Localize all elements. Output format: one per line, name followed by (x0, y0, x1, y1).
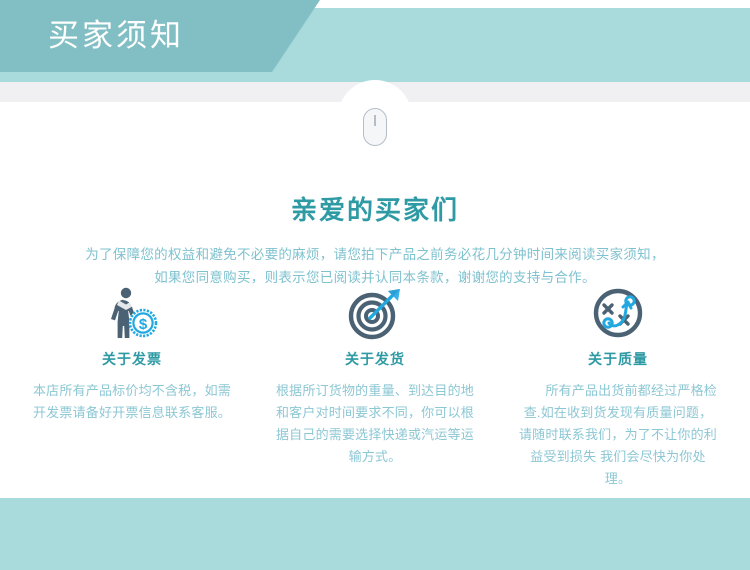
target-with-dart-icon (344, 285, 406, 341)
mouse-wheel-shape (374, 115, 376, 126)
computer-mouse-icon (338, 102, 412, 154)
column-body-invoice: 本店所有产品标价均不含税，如需开发票请备好开票信息联系客服。 (32, 380, 232, 424)
column-heading-shipping: 关于发货 (345, 349, 405, 369)
businessman-with-dollar-coin-icon: $ (101, 285, 163, 341)
mouse-body-shape (363, 108, 387, 146)
info-column-shipping: 关于发货 根据所订货物的重量、到达目的地和客户对时间要求不同，你可以根据自己的需… (261, 285, 489, 490)
info-column-invoice: $ 关于发票 本店所有产品标价均不含税，如需开发票请备好开票信息联系客服。 (18, 285, 246, 490)
svg-text:$: $ (139, 316, 148, 333)
page-root: 买家须知 亲爱的买家们 为了保障您的权益和避免不必要的麻烦，请您拍下产品之前务必… (0, 0, 750, 570)
banner-title: 买家须知 (48, 0, 184, 72)
intro-line-1: 为了保障您的权益和避免不必要的麻烦，请您拍下产品之前务必花几分钟时间来阅读买家须… (55, 243, 695, 266)
info-columns: $ 关于发票 本店所有产品标价均不含税，如需开发票请备好开票信息联系客服。 关于… (0, 285, 750, 490)
column-body-shipping: 根据所订货物的重量、到达目的地和客户对时间要求不同，你可以根据自己的需要选择快递… (275, 380, 475, 468)
info-column-quality: 关于质量 所有产品出货前都经过严格检查.如在收到货发现有质量问题，请随时联系我们… (504, 285, 732, 490)
page-title: 亲爱的买家们 (0, 193, 750, 227)
footer-band (0, 498, 750, 570)
strategy-tactics-icon (587, 285, 649, 341)
main-content: 亲爱的买家们 为了保障您的权益和避免不必要的麻烦，请您拍下产品之前务必花几分钟时… (0, 155, 750, 289)
column-heading-quality: 关于质量 (588, 349, 648, 369)
column-body-quality: 所有产品出货前都经过严格检查.如在收到货发现有质量问题，请随时联系我们，为了不让… (518, 380, 718, 490)
intro-paragraph: 为了保障您的权益和避免不必要的麻烦，请您拍下产品之前务必花几分钟时间来阅读买家须… (55, 243, 695, 289)
column-heading-invoice: 关于发票 (102, 349, 162, 369)
